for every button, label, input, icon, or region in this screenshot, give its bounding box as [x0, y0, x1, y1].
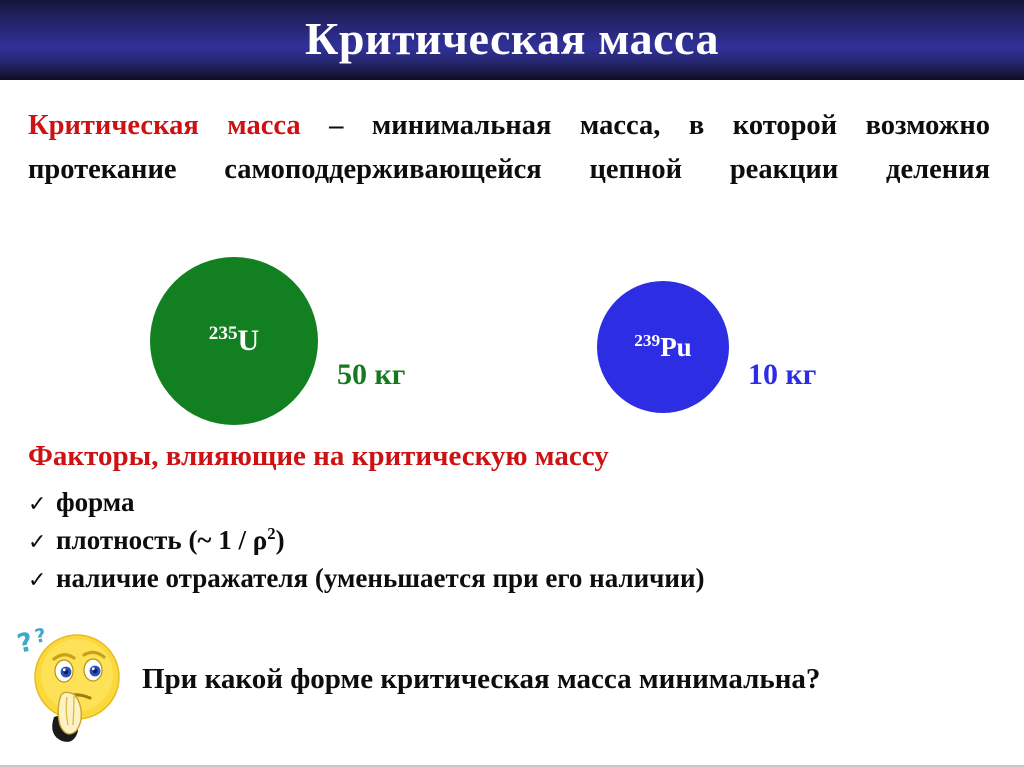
- factor-label-suffix: ): [276, 525, 285, 555]
- definition-paragraph: Критическая масса – минимальная масса, в…: [28, 104, 990, 236]
- isotope-circle-plutonium-239: 239Pu: [597, 281, 729, 413]
- list-item: ✓ наличие отражателя (уменьшается при ег…: [28, 559, 988, 597]
- factor-label-text: плотность (~ 1 / ρ: [56, 525, 267, 555]
- question-row: ? ? При какой форме крити: [8, 625, 1008, 745]
- isotope-circle-uranium-235: 235U: [150, 257, 318, 425]
- slide-header-bar: Критическая масса: [0, 0, 1024, 80]
- list-item: ✓ плотность (~ 1 / ρ2): [28, 521, 988, 559]
- factors-heading: Факторы, влияющие на критическую массу: [28, 440, 609, 473]
- question-text: При какой форме критическая масса минима…: [142, 663, 820, 696]
- critical-mass-value-plutonium-239: 10 кг: [748, 358, 816, 392]
- factor-label-exponent: 2: [267, 524, 275, 543]
- isotope-mass-number: 239: [634, 331, 660, 350]
- isotope-symbol: Pu: [660, 332, 692, 362]
- list-item: ✓ форма: [28, 483, 988, 521]
- factor-label: форма: [56, 483, 135, 521]
- svg-text:?: ?: [33, 625, 48, 648]
- page-title: Критическая масса: [0, 0, 1024, 80]
- check-icon: ✓: [28, 524, 56, 562]
- definition-term: Критическая масса: [28, 110, 301, 141]
- isotope-label-uranium-235: 235U: [209, 324, 259, 358]
- thinking-face-emoji: ? ?: [14, 625, 144, 745]
- check-icon: ✓: [28, 562, 56, 600]
- check-icon: ✓: [28, 486, 56, 524]
- isotope-symbol: U: [238, 324, 260, 357]
- factor-label: плотность (~ 1 / ρ2): [56, 521, 285, 559]
- isotope-mass-number: 235: [209, 323, 238, 344]
- factors-list: ✓ форма ✓ плотность (~ 1 / ρ2) ✓ наличие…: [28, 483, 988, 597]
- slide-critical-mass: Критическая масса Критическая масса – ми…: [0, 0, 1024, 767]
- critical-mass-value-uranium-235: 50 кг: [337, 358, 405, 392]
- isotope-label-plutonium-239: 239Pu: [634, 332, 691, 363]
- factor-label: наличие отражателя (уменьшается при его …: [56, 559, 705, 597]
